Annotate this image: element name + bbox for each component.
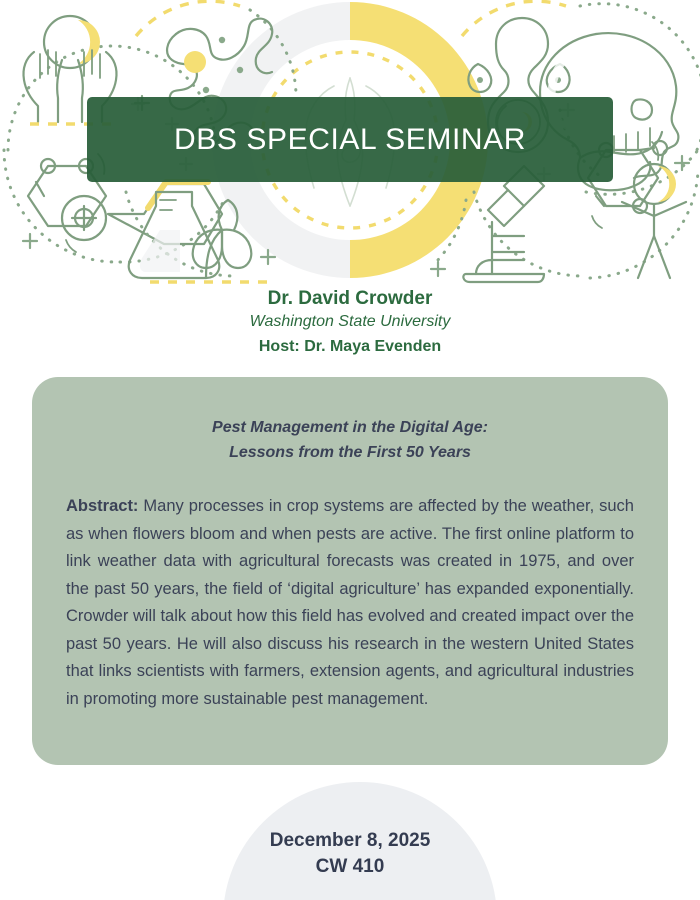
speaker-name: Dr. David Crowder <box>0 287 700 311</box>
speaker-host: Host: Dr. Maya Evenden <box>0 335 700 359</box>
footer-details: December 8, 2025 CW 410 <box>0 828 700 880</box>
speaker-block: Dr. David Crowder Washington State Unive… <box>0 287 700 359</box>
seminar-date: December 8, 2025 <box>0 828 700 854</box>
seminar-title-text: DBS SPECIAL SEMINAR <box>174 123 526 157</box>
talk-title: Pest Management in the Digital Age: Less… <box>66 415 634 465</box>
seminar-poster: .ln { fill:none; stroke:#7f9e80; stroke-… <box>0 0 700 900</box>
speaker-affiliation: Washington State University <box>0 311 700 333</box>
abstract-label: Abstract: <box>66 497 138 515</box>
abstract-card: Pest Management in the Digital Age: Less… <box>32 377 668 765</box>
talk-title-line-1: Pest Management in the Digital Age: <box>212 419 488 436</box>
abstract-text: Many processes in crop systems are affec… <box>66 497 634 708</box>
seminar-room: CW 410 <box>0 854 700 880</box>
seminar-title-banner: DBS SPECIAL SEMINAR <box>87 97 613 182</box>
abstract-body: Abstract: Many processes in crop systems… <box>66 493 634 713</box>
talk-title-line-2: Lessons from the First 50 Years <box>229 444 471 461</box>
